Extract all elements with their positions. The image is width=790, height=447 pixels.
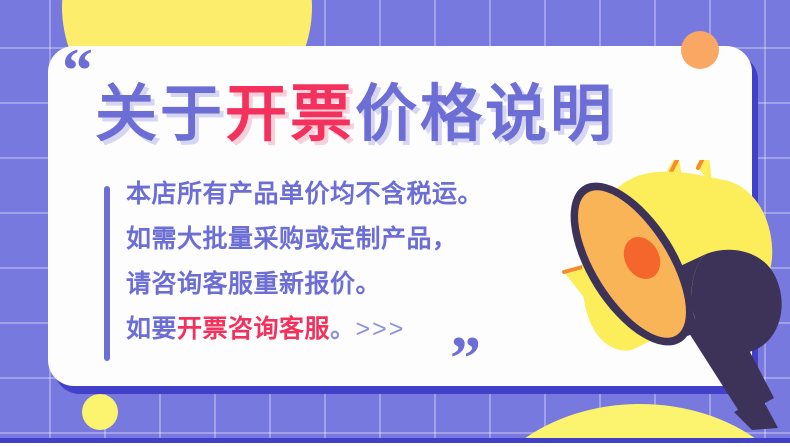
body-line-4-prefix: 如要 [126,315,177,343]
body-line-1: 本店所有产品单价均不含税运。 [126,182,546,207]
body-line-4: 如要开票咨询客服。>>> [126,317,546,342]
body-line-4-period: 。 [330,315,356,343]
close-quote-glyph: ” [450,325,481,393]
close-quote-mark: ” ” [450,328,481,390]
body-text-block: 本店所有产品单价均不含税运。 如需大批量采购或定制产品， 请咨询客服重新报价。 … [126,182,546,342]
title-part-2-highlight: 开票 [225,80,355,149]
open-quote-glyph: “ [62,37,93,105]
body-line-3-text: 请咨询客服重新报价。 [126,270,381,298]
title-part-3: 价格说明 [355,80,615,149]
body-line-4-highlight[interactable]: 开票咨询客服 [177,315,330,343]
body-line-1-text: 本店所有产品单价均不含税运。 [126,180,483,208]
banner-canvas: “ “ 关于开票价格说明 本店所有产品单价均不含税运。 如需大批量采购或定制产品… [0,0,790,447]
yellow-dot-icon [82,394,118,430]
orange-dot-icon [681,31,719,69]
bottom-white-strip [0,443,790,447]
body-line-2-text: 如需大批量采购或定制产品， [126,225,458,253]
open-quote-mark: “ “ [62,40,93,102]
megaphone-icon [556,160,790,430]
chevron-right-icon[interactable]: >>> [356,315,406,343]
body-accent-bar [104,186,110,361]
title-part-1: 关于 [95,80,225,149]
page-title: 关于开票价格说明 [95,84,615,146]
body-line-2: 如需大批量采购或定制产品， [126,227,546,252]
body-line-3: 请咨询客服重新报价。 [126,272,546,297]
